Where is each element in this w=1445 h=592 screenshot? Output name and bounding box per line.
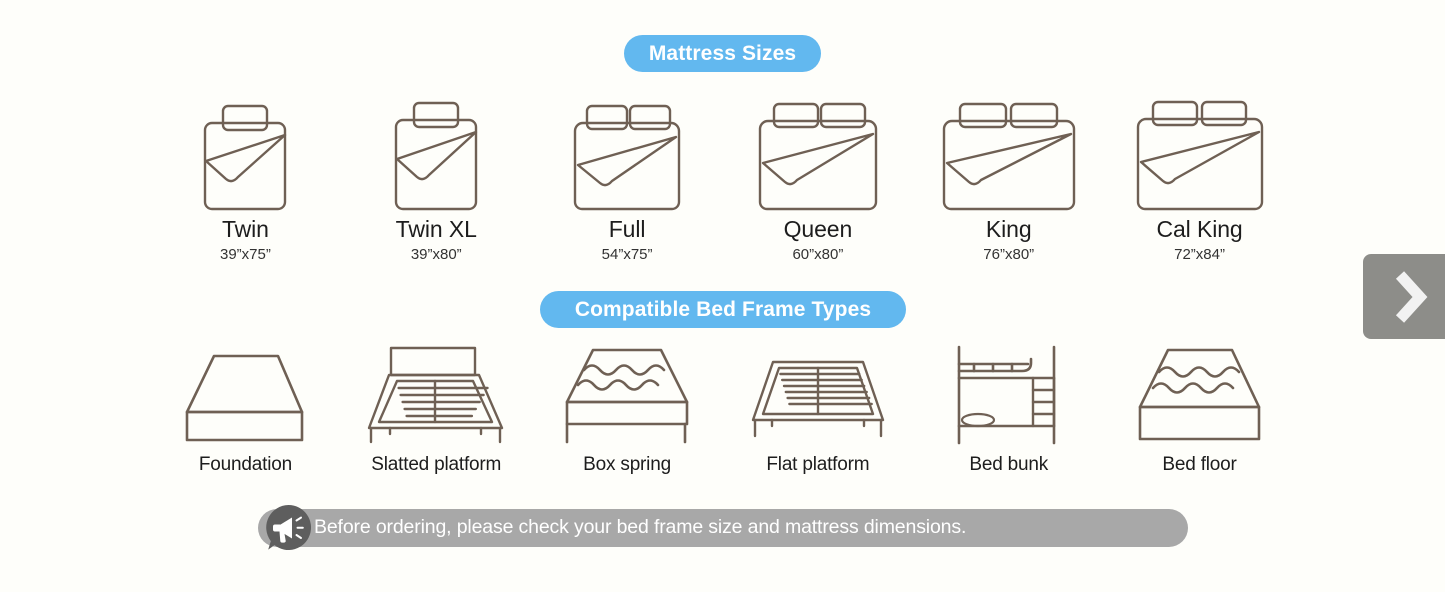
bed-frame-item-foundation: Foundation xyxy=(150,336,341,476)
mattress-size-dimensions: 60”x80” xyxy=(792,247,843,264)
notice-bar: Before ordering, please check your bed f… xyxy=(258,509,1188,547)
mattress-size-name: Full xyxy=(609,217,646,242)
mattress-size-dimensions: 76”x80” xyxy=(983,247,1034,264)
frame-bed-bunk-icon xyxy=(950,340,1068,446)
megaphone-icon xyxy=(265,504,312,551)
carousel-next-button[interactable] xyxy=(1363,254,1445,339)
mattress-size-dimensions: 54”x75” xyxy=(602,247,653,264)
mattress-size-item-queen: Queen 60”x80” xyxy=(722,88,913,263)
bed-frame-item-box-spring: Box spring xyxy=(532,336,723,476)
bed-frame-name: Bed bunk xyxy=(969,455,1048,476)
bed-frame-item-bed-floor: Bed floor xyxy=(1104,336,1295,476)
bed-frame-item-bed-bunk: Bed bunk xyxy=(913,336,1104,476)
bed-frame-item-slatted-platform: Slatted platform xyxy=(341,336,532,476)
mattress-size-name: Cal King xyxy=(1156,217,1242,242)
bed-twin-xl-icon xyxy=(393,99,479,211)
bed-full-icon xyxy=(572,99,682,211)
mattress-size-name: Twin xyxy=(222,217,269,242)
bed-twin-icon xyxy=(202,99,288,211)
frame-box-spring-icon xyxy=(557,340,697,446)
infographic-canvas: Mattress Sizes Twin 39”x75” xyxy=(0,0,1445,592)
mattress-size-list: Twin 39”x75” Twin XL 39”x80” xyxy=(150,88,1295,263)
mattress-size-name: Queen xyxy=(784,217,853,242)
bed-frame-type-list: Foundation Slatted platform xyxy=(150,336,1295,476)
mattress-size-name: Twin XL xyxy=(396,217,477,242)
bed-queen-icon xyxy=(757,99,879,211)
bed-cal-king-icon xyxy=(1135,99,1265,211)
bed-king-icon xyxy=(941,99,1077,211)
bed-frame-name: Foundation xyxy=(199,455,292,476)
mattress-size-item-twin: Twin 39”x75” xyxy=(150,88,341,263)
bed-frame-name: Slatted platform xyxy=(371,455,501,476)
mattress-size-item-king: King 76”x80” xyxy=(913,88,1104,263)
bed-frame-name: Box spring xyxy=(583,455,671,476)
section-heading-mattress-sizes: Mattress Sizes xyxy=(624,35,821,72)
frame-flat-platform-icon xyxy=(745,340,891,446)
bed-frame-name: Bed floor xyxy=(1162,455,1236,476)
frame-slatted-platform-icon xyxy=(361,340,511,446)
mattress-size-item-cal-king: Cal King 72”x84” xyxy=(1104,88,1295,263)
mattress-size-name: King xyxy=(986,217,1032,242)
frame-foundation-icon xyxy=(182,340,308,446)
chevron-right-icon xyxy=(1391,271,1427,323)
bed-frame-item-flat-platform: Flat platform xyxy=(722,336,913,476)
mattress-size-dimensions: 39”x80” xyxy=(411,247,462,264)
mattress-size-dimensions: 39”x75” xyxy=(220,247,271,264)
section-heading-bed-frame-types: Compatible Bed Frame Types xyxy=(540,291,906,328)
mattress-size-dimensions: 72”x84” xyxy=(1174,247,1225,264)
mattress-size-item-full: Full 54”x75” xyxy=(532,88,723,263)
bed-frame-name: Flat platform xyxy=(766,455,869,476)
mattress-size-item-twin-xl: Twin XL 39”x80” xyxy=(341,88,532,263)
notice-text: Before ordering, please check your bed f… xyxy=(314,518,966,538)
frame-bed-floor-icon xyxy=(1130,340,1270,446)
